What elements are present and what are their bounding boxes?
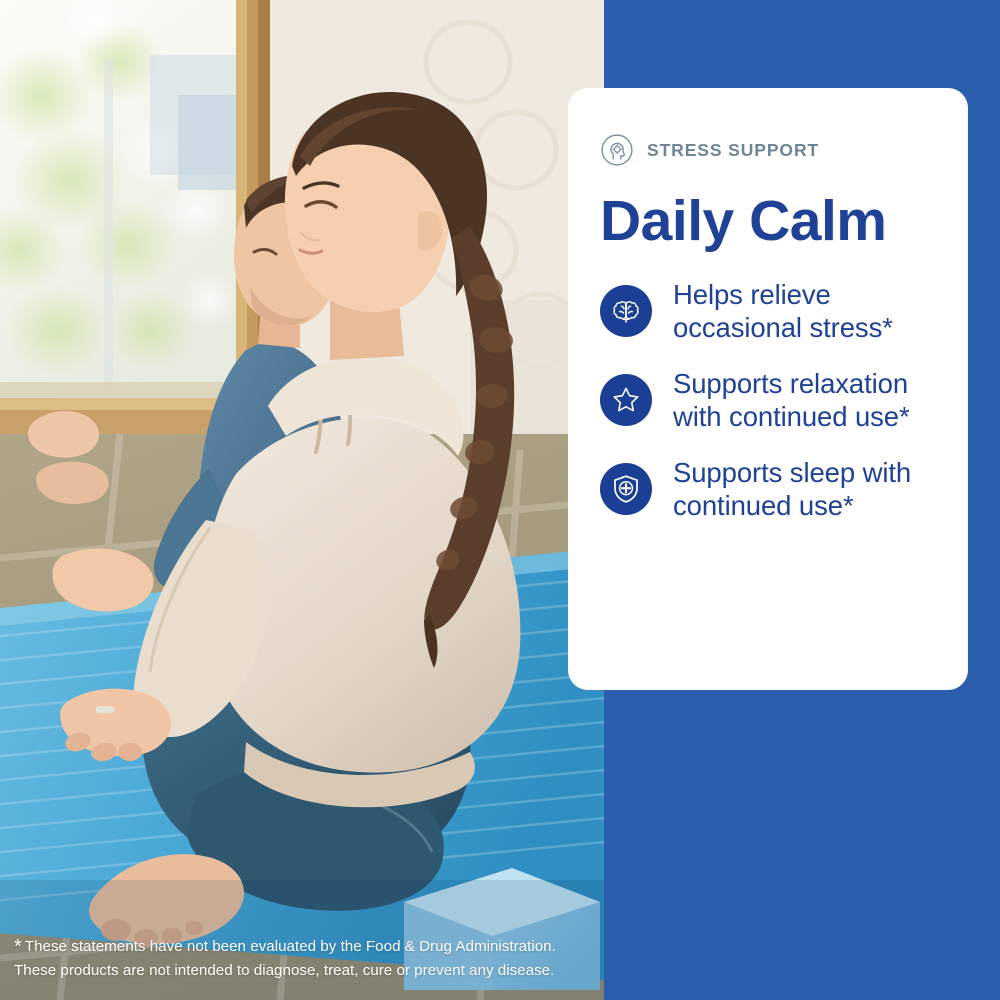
brain-icon: [610, 295, 642, 327]
benefit-item: Supports relaxation with continued use*: [600, 367, 938, 433]
shield-plus-icon: [610, 473, 642, 505]
disclaimer-text-1: These statements have not been evaluated…: [25, 938, 556, 955]
marketing-banner: STRESS SUPPORT Daily Calm: [0, 0, 1000, 1000]
asterisk-marker: *: [14, 936, 22, 958]
benefit-icon-badge: [600, 463, 652, 515]
star-icon: [610, 384, 642, 416]
benefit-text: Helps relieve occasional stress*: [673, 278, 938, 344]
fda-disclaimer: *These statements have not been evaluate…: [14, 935, 594, 984]
benefit-icon-badge: [600, 374, 652, 426]
disclaimer-line-1: *These statements have not been evaluate…: [14, 935, 594, 960]
lifestyle-photo: [0, 0, 604, 1000]
disclaimer-line-2: These products are not intended to diagn…: [14, 959, 594, 984]
benefit-item: Supports sleep with continued use*: [600, 456, 938, 522]
benefit-text: Supports relaxation with continued use*: [673, 367, 938, 433]
benefit-text: Supports sleep with continued use*: [673, 456, 938, 522]
product-title: Daily Calm: [600, 192, 938, 252]
benefit-list: Helps relieve occasional stress* Support…: [600, 278, 938, 522]
photo-illustration: [0, 0, 604, 1000]
head-profile-mind-icon: [600, 133, 634, 167]
benefit-icon-badge: [600, 285, 652, 337]
category-eyebrow: STRESS SUPPORT: [600, 132, 938, 168]
product-info-card: STRESS SUPPORT Daily Calm: [568, 88, 968, 690]
benefit-item: Helps relieve occasional stress*: [600, 278, 938, 344]
category-label: STRESS SUPPORT: [647, 140, 819, 161]
